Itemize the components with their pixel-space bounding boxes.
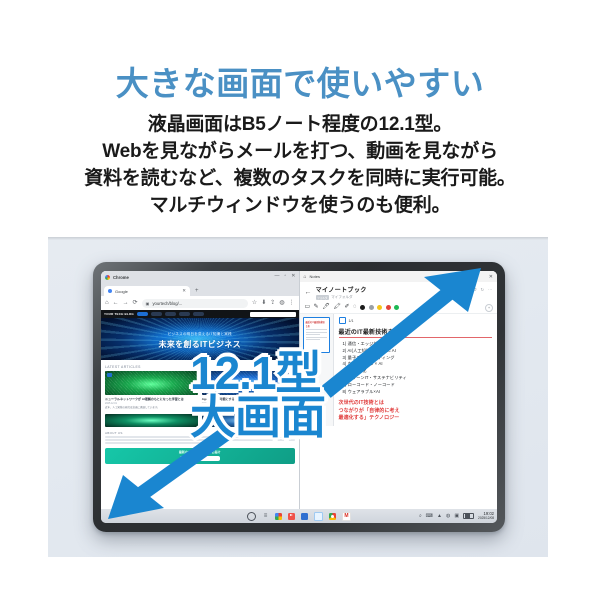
- subcopy-line-3: 資料を読むなど、複数のタスクを同時に実行可能。: [0, 166, 600, 193]
- site-logo[interactable]: YOUR TECH BLOG: [104, 312, 134, 316]
- highlighter-icon[interactable]: 🖍: [333, 304, 341, 310]
- article-card[interactable]: [105, 414, 198, 427]
- article-badge: [107, 373, 112, 377]
- cta-button[interactable]: [180, 456, 220, 461]
- notes-body: 最近のIT最新技術まとめ: [300, 314, 498, 426]
- note-item: 6) グリーンIT・サステナビリティ: [343, 375, 493, 382]
- color-swatch-yellow[interactable]: [377, 305, 382, 310]
- subcopy-line-2: Webを見ながらメールを打つ、動画を見ながら: [0, 139, 600, 166]
- note-item: 5) DXの深化: [343, 368, 493, 375]
- taskbar: ≡ M ⌕ ⌨ ▲ ◍ ▣: [101, 509, 497, 523]
- minimize-button[interactable]: —: [275, 274, 280, 279]
- play-icon[interactable]: [288, 513, 295, 520]
- note-page[interactable]: 1/1 最近のIT最新技術まとめ 1) 通信・エッジ技術 2) AI(人工知能)…: [334, 314, 498, 426]
- note-item-list: 1) 通信・エッジ技術 2) AI(人工知能)とAgentic AI 3) 量子…: [339, 341, 493, 395]
- nav-item[interactable]: [193, 312, 204, 316]
- notes-titlebar: ⌂ Notes ✕: [300, 271, 498, 282]
- site-search-input[interactable]: [250, 312, 296, 317]
- taskbar-clock[interactable]: 19:02 2025/12/08: [478, 511, 494, 521]
- cta-text: 最新のIT情報をメールでお届け: [179, 450, 221, 454]
- overlay-line-1: 12.1型: [190, 352, 325, 394]
- notes-app-icon: ⌂: [304, 274, 307, 280]
- notes-app-name: Notes: [310, 274, 320, 279]
- screenshot-root: 大きな画面で使いやすい 液晶画面はB5ノート程度の12.1型。 Webを見ながら…: [0, 0, 600, 600]
- tray-language-icon[interactable]: ⌨: [426, 514, 433, 519]
- new-tab-button[interactable]: +: [195, 287, 199, 296]
- pen-icon[interactable]: ✎: [314, 304, 319, 310]
- page-number: 1/1: [349, 319, 354, 323]
- color-swatch-green[interactable]: [394, 305, 399, 310]
- notes-window[interactable]: ⌂ Notes ✕ ← マイノートブック フォルダ マ: [299, 271, 498, 509]
- nav-item[interactable]: [165, 312, 176, 316]
- clock-date: 2025/12/08: [478, 516, 494, 521]
- forward-icon[interactable]: →: [123, 300, 129, 306]
- overlay-callout: 12.1型 大画面: [190, 352, 325, 439]
- chrome-menu-icon[interactable]: ⋮: [289, 300, 295, 306]
- more-icon[interactable]: ⋯: [488, 287, 492, 292]
- chrome-tab-strip: Google ✕ +: [101, 284, 299, 296]
- back-icon[interactable]: ←: [113, 300, 119, 306]
- tray-volume-icon[interactable]: ◍: [446, 514, 450, 519]
- notebook-titles: マイノートブック フォルダ マイフォルダ: [316, 285, 367, 300]
- chrome-titlebar: Chrome — ▫ ✕: [101, 271, 299, 284]
- chrome-logo-icon: [105, 275, 110, 280]
- nav-item[interactable]: [179, 312, 190, 316]
- note-annotation-line: 最適化する」テクノロジー: [339, 415, 493, 423]
- text-line: [306, 334, 321, 335]
- maximize-button[interactable]: ▫: [285, 274, 287, 279]
- tab-favicon-icon: [108, 289, 112, 293]
- page-subcopy: 液晶画面はB5ノート程度の12.1型。 Webを見ながらメールを打つ、動画を見な…: [0, 112, 600, 220]
- note-item: 7) ローコード・ノーコード: [343, 382, 493, 389]
- start-icon[interactable]: [247, 512, 256, 521]
- text-line: [306, 339, 321, 340]
- subcopy-line-1: 液晶画面はB5ノート程度の12.1型。: [0, 112, 600, 139]
- article-thumbnail: [105, 371, 198, 395]
- nav-item[interactable]: [151, 312, 162, 316]
- profile-icon[interactable]: ◍: [279, 300, 284, 306]
- store-icon[interactable]: [314, 512, 323, 521]
- notes-close-icon[interactable]: ✕: [489, 274, 493, 280]
- folder-row: フォルダ マイフォルダ: [316, 295, 367, 300]
- tab-title: Google: [115, 289, 128, 294]
- home-icon[interactable]: ⌂: [105, 300, 109, 306]
- note-heading: 最近のIT最新技術まとめ: [339, 327, 493, 338]
- chrome-icon[interactable]: [329, 513, 336, 520]
- article-thumbnail: [105, 414, 198, 427]
- article-headline: ニューラルネットワークが AI理解のもとになった学習とは: [105, 397, 198, 401]
- notebook-header: ← マイノートブック フォルダ マイフォルダ ↺: [300, 282, 498, 302]
- page-controls: 1/1: [339, 317, 493, 324]
- chrome-app-name: Chrome: [113, 275, 129, 280]
- color-swatch-gray[interactable]: [369, 305, 374, 310]
- site-nav: YOUR TECH BLOG: [101, 310, 299, 318]
- tray-screenshot-icon[interactable]: ▣: [454, 514, 459, 519]
- subcopy-line-4: マルチウィンドウを使うのも便利。: [0, 193, 600, 220]
- bookmark-star-icon[interactable]: ☆: [252, 300, 257, 306]
- pencil-icon[interactable]: ✐: [344, 304, 349, 310]
- note-item: 8) ウェアラブル×AI: [343, 389, 493, 396]
- browser-tab[interactable]: Google ✕: [104, 286, 190, 296]
- window-controls: — ▫ ✕: [275, 274, 296, 279]
- article-excerpt: 近年、人工知能の研究は急速に進展しています。: [105, 406, 198, 410]
- gmail-icon[interactable]: M: [342, 512, 351, 521]
- tab-close-icon[interactable]: ✕: [182, 288, 186, 294]
- pen-toolbar: ▭ ✎ 🖊 🖍 ✐ ◌ +: [300, 302, 498, 314]
- share-icon[interactable]: ⇪: [270, 300, 275, 306]
- color-swatch-black[interactable]: [360, 305, 365, 310]
- text-line: [306, 337, 327, 338]
- folder-icon: フォルダ: [316, 295, 330, 300]
- note-annotation-line: 次世代のIT技術とは: [339, 400, 493, 408]
- marker-icon[interactable]: 🖊: [322, 304, 330, 310]
- download-icon[interactable]: ⬇: [261, 300, 266, 306]
- nav-item[interactable]: [137, 312, 148, 316]
- eraser-icon[interactable]: ▭: [305, 304, 311, 310]
- files-icon[interactable]: [301, 513, 308, 520]
- reload-icon[interactable]: ⟳: [133, 300, 138, 306]
- note-annotation: 次世代のIT技術とは つながりが「自律的に考え 最適化する」テクノロジー: [339, 400, 493, 423]
- photos-icon[interactable]: [275, 513, 282, 520]
- close-button[interactable]: ✕: [291, 274, 295, 279]
- system-tray: ⌕ ⌨ ▲ ◍ ▣ 19:02 2025/12/08: [419, 511, 494, 521]
- page-headline: 大きな画面で使いやすい: [0, 66, 600, 102]
- tray-wifi-icon[interactable]: ▲: [437, 514, 442, 519]
- note-item: 2) AI(人工知能)とAgentic AI: [343, 348, 493, 355]
- article-card[interactable]: ニューラルネットワークが AI理解のもとになった学習とは 2025.12.01 …: [105, 371, 198, 410]
- article-date: 2025.12.01: [105, 402, 198, 405]
- hero-subtitle: ビジネスの明日を変えるIT知識と実践: [101, 332, 299, 337]
- note-item: 1) 通信・エッジ技術: [343, 341, 493, 348]
- chrome-toolbar: ⌂ ← → ⟳ ▣ yourtech/blog/... ☆ ⬇ ⇪: [101, 296, 299, 311]
- battery-icon[interactable]: [463, 513, 474, 520]
- overlay-line-2: 大画面: [190, 396, 325, 438]
- thumbnail-title: 最近のIT最新技術まとめ: [306, 320, 327, 328]
- undo-icon[interactable]: ↺: [473, 287, 476, 292]
- text-line: [306, 332, 327, 333]
- folder-name: マイフォルダ: [331, 295, 353, 300]
- back-arrow-icon[interactable]: ←: [305, 289, 312, 296]
- redo-icon[interactable]: ↻: [481, 287, 484, 292]
- add-color-button[interactable]: +: [485, 304, 493, 312]
- notebook-header-actions: ↺ ↻ ⋯: [473, 287, 492, 292]
- tray-search-icon[interactable]: ⌕: [419, 514, 422, 519]
- lasso-icon[interactable]: ◌: [353, 304, 357, 310]
- notebook-title: マイノートブック: [316, 285, 367, 294]
- text-line: [306, 329, 327, 330]
- page-select-icon[interactable]: [339, 317, 346, 324]
- address-bar[interactable]: ▣ yourtech/blog/...: [142, 299, 248, 308]
- lock-icon: ▣: [146, 301, 150, 306]
- newsletter-cta: 最新のIT情報をメールでお届け: [105, 448, 295, 464]
- color-swatch-red[interactable]: [386, 305, 391, 310]
- address-bar-url: yourtech/blog/...: [152, 301, 182, 306]
- search-icon[interactable]: ≡: [262, 513, 269, 520]
